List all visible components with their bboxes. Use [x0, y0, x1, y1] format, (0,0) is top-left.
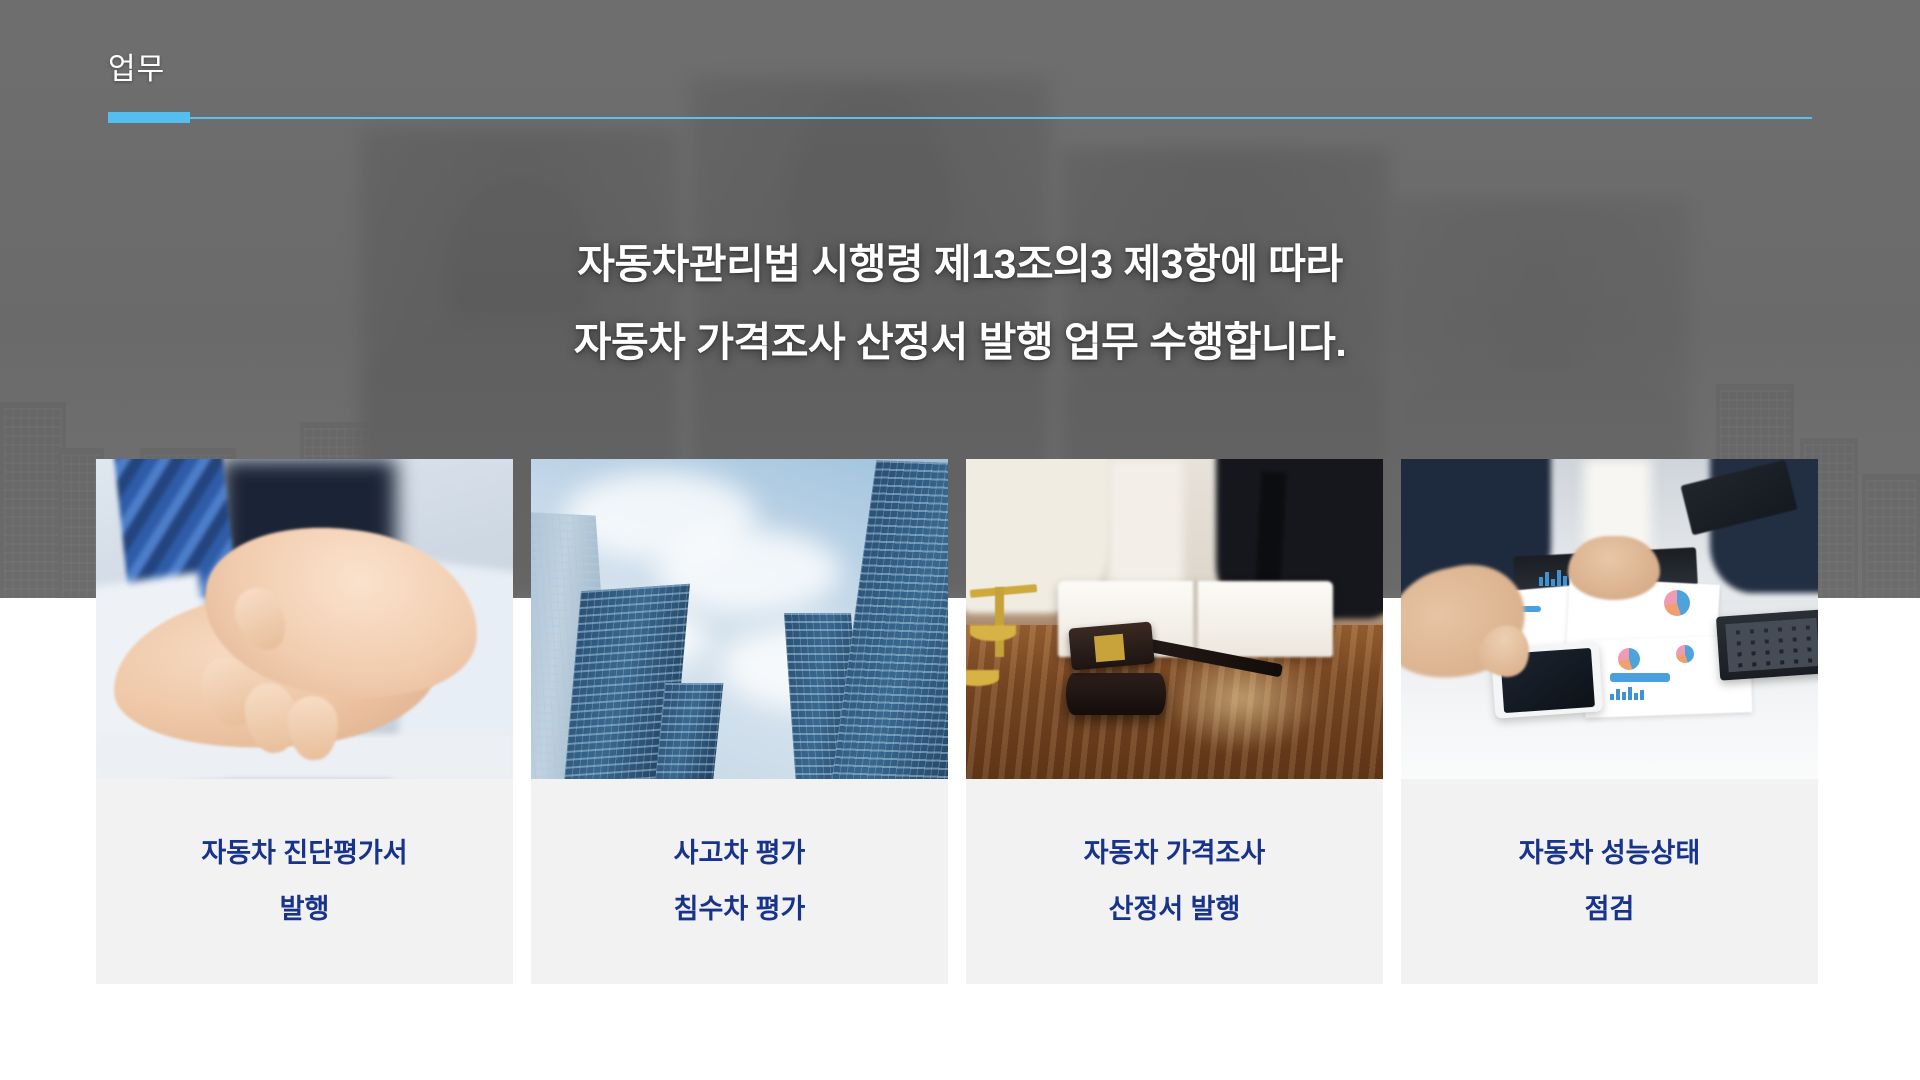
service-card-caption: 사고차 평가 침수차 평가 — [531, 779, 948, 984]
caption-line-2: 점검 — [1585, 882, 1635, 937]
caption-line-2: 침수차 평가 — [674, 882, 806, 937]
service-card-caption: 자동차 성능상태 점검 — [1401, 779, 1818, 984]
caption-line-1: 자동차 성능상태 — [1519, 826, 1700, 881]
headline-line-2: 자동차 가격조사 산정서 발행 업무 수행합니다. — [0, 304, 1920, 382]
service-card[interactable]: 사고차 평가 침수차 평가 — [531, 459, 948, 984]
handshake-icon — [96, 459, 513, 779]
section-divider-line — [108, 117, 1812, 119]
caption-line-1: 사고차 평가 — [674, 826, 806, 881]
caption-line-2: 발행 — [280, 882, 330, 937]
hero-headline: 자동차관리법 시행령 제13조의3 제3항에 따라 자동차 가격조사 산정서 발… — [0, 226, 1920, 382]
business-report-icon — [1401, 459, 1818, 779]
slide-root: 업무 자동차관리법 시행령 제13조의3 제3항에 따라 자동차 가격조사 산정… — [0, 0, 1920, 1080]
skyscrapers-icon — [531, 459, 948, 779]
section-accent-bar — [108, 112, 190, 123]
service-card[interactable]: 자동차 가격조사 산정서 발행 — [966, 459, 1383, 984]
gavel-icon — [966, 459, 1383, 779]
headline-line-1: 자동차관리법 시행령 제13조의3 제3항에 따라 — [0, 226, 1920, 304]
service-card[interactable]: 자동차 성능상태 점검 — [1401, 459, 1818, 984]
service-card[interactable]: 자동차 진단평가서 발행 — [96, 459, 513, 984]
service-card-list: 자동차 진단평가서 발행 사고차 평가 침수차 평가 — [96, 459, 1824, 984]
section-label: 업무 — [108, 44, 165, 88]
caption-line-1: 자동차 가격조사 — [1084, 826, 1265, 881]
service-card-caption: 자동차 진단평가서 발행 — [96, 779, 513, 984]
caption-line-1: 자동차 진단평가서 — [201, 826, 407, 881]
caption-line-2: 산정서 발행 — [1109, 882, 1241, 937]
service-card-caption: 자동차 가격조사 산정서 발행 — [966, 779, 1383, 984]
